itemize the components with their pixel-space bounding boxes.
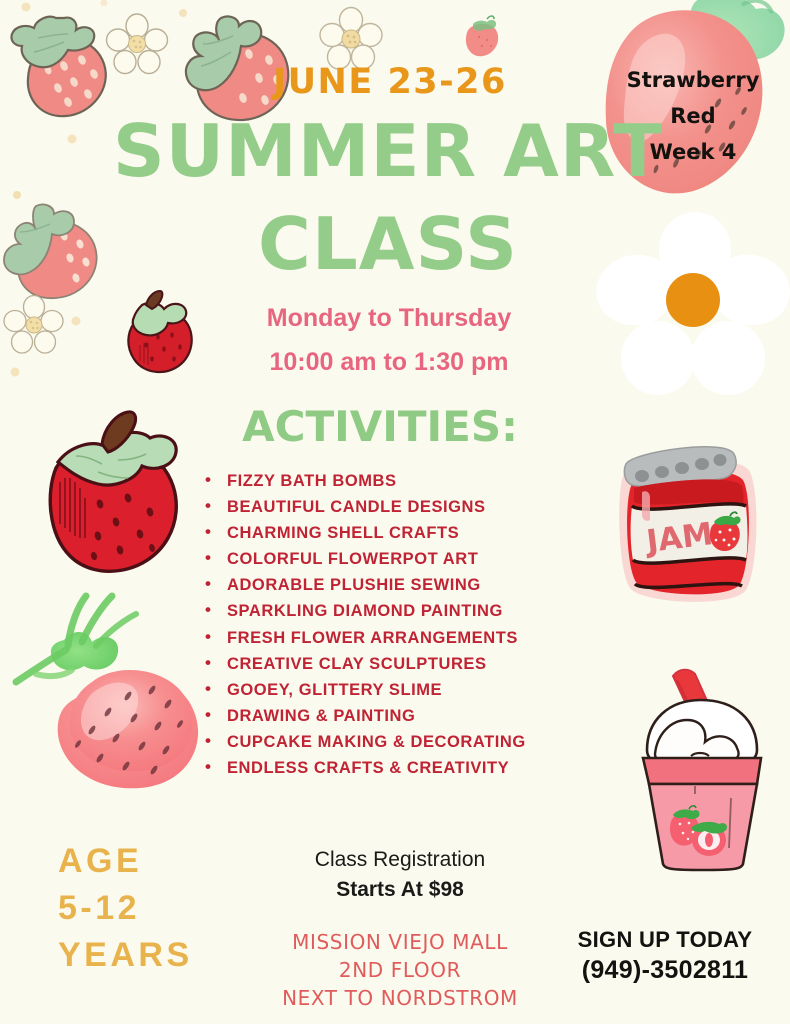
age-line2: 5-12 [58, 885, 193, 932]
list-item: SPARKLING DIAMOND PAINTING [205, 598, 526, 624]
strawberry-milkshake-icon [625, 658, 785, 873]
list-item: ADORABLE PLUSHIE SEWING [205, 572, 526, 598]
strawberry-jam-jar-icon: JAM [600, 440, 780, 610]
list-item: COLORFUL FLOWERPOT ART [205, 546, 526, 572]
signup-phone-number[interactable]: (949)-3502811 [540, 955, 790, 986]
list-item: FRESH FLOWER ARRANGEMENTS [205, 625, 526, 651]
address-line3: NEXT TO NORDSTROM [235, 984, 565, 1012]
list-item: FIZZY BATH BOMBS [205, 468, 526, 494]
jam-label-text: JAM [643, 516, 715, 560]
list-item: CUPCAKE MAKING & DECORATING [205, 729, 526, 755]
list-item: DRAWING & PAINTING [205, 703, 526, 729]
schedule-days: Monday to Thursday [0, 296, 784, 340]
list-item: GOOEY, GLITTERY SLIME [205, 677, 526, 703]
poster-canvas: JAM [0, 0, 790, 1024]
activities-heading: ACTIVITIES: [0, 402, 775, 451]
signup-cta-label: SIGN UP TODAY [540, 925, 790, 955]
tiny-watercolor-strawberry-icon [461, 12, 505, 60]
week-badge: Strawberry Red Week 4 [598, 62, 788, 170]
age-line3: YEARS [58, 932, 193, 979]
big-watercolor-strawberry-icon [8, 578, 218, 788]
page-title-line2: CLASS [0, 205, 783, 283]
week-badge-line3: Week 4 [598, 134, 788, 170]
age-line1: AGE [58, 838, 193, 885]
address-line2: 2ND FLOOR [235, 956, 565, 984]
daisy-flower-top-center-icon [320, 8, 382, 70]
list-item: BEAUTIFUL CANDLE DESIGNS [205, 494, 526, 520]
week-badge-line1: Strawberry [598, 62, 788, 98]
address-line1: MISSION VIEJO MALL [235, 928, 565, 956]
registration-price: Starts At $98 [235, 875, 565, 905]
list-item: CREATIVE CLAY SCULPTURES [205, 651, 526, 677]
list-item: ENDLESS CRAFTS & CREATIVITY [205, 755, 526, 781]
week-badge-line2: Red [598, 98, 788, 134]
signup-cta-block[interactable]: SIGN UP TODAY (949)-3502811 [540, 925, 790, 986]
list-item: CHARMING SHELL CRAFTS [205, 520, 526, 546]
registration-price-block: Class Registration Starts At $98 [235, 845, 565, 905]
location-address-block: MISSION VIEJO MALL 2ND FLOOR NEXT TO NOR… [235, 928, 565, 1012]
schedule-block: Monday to Thursday 10:00 am to 1:30 pm [0, 296, 784, 384]
registration-label: Class Registration [235, 845, 565, 875]
activities-list: FIZZY BATH BOMBS BEAUTIFUL CANDLE DESIGN… [205, 468, 526, 781]
age-range-block: AGE 5-12 YEARS [58, 838, 193, 979]
schedule-time: 10:00 am to 1:30 pm [0, 340, 784, 384]
